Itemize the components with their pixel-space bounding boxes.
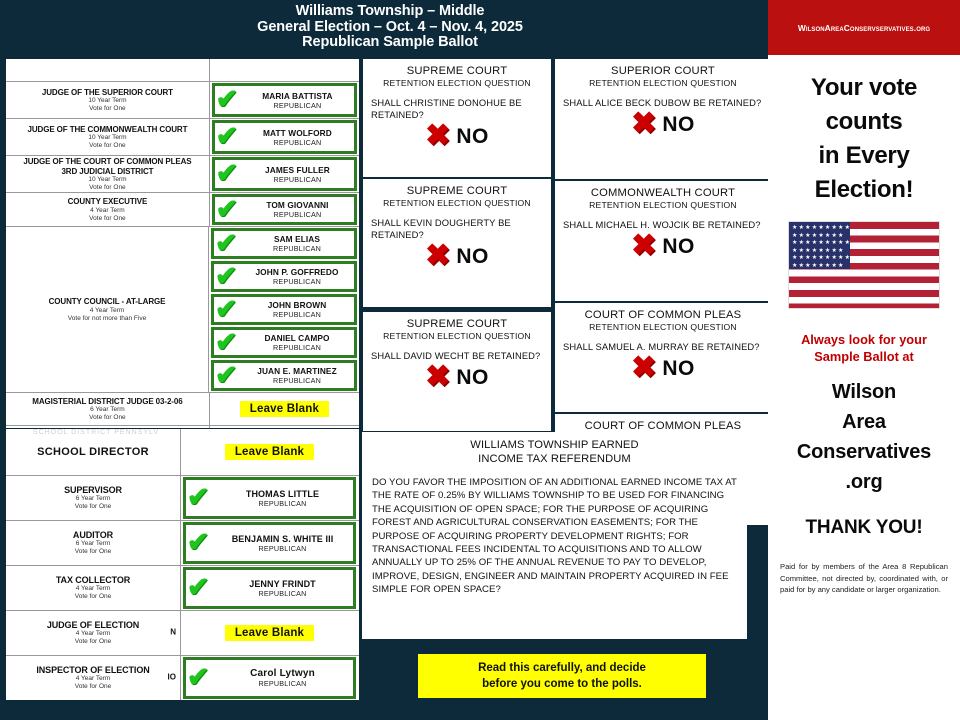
office-term: 4 Year Term (8, 307, 206, 315)
candidate-cell[interactable]: Leave Blank (210, 393, 359, 425)
office-vote-for: Vote for One (8, 548, 178, 556)
table-row: JUDGE OF THE COMMONWEALTH COURT 10 Year … (6, 119, 359, 156)
office-cell: JUDGE OF THE SUPERIOR COURT 10 Year Term… (6, 82, 210, 118)
answer-row: ✖ NO (371, 243, 543, 271)
answer-label: NO (456, 125, 489, 149)
retention-question-card: SUPREME COURT RETENTION ELECTION QUESTIO… (362, 58, 552, 178)
office-vote-for: Vote for not more than Five (8, 315, 206, 323)
table-row: MAGISTERIAL DISTRICT JUDGE 03-2-06 6 Yea… (6, 393, 359, 426)
table-row: SUPERVISOR 6 Year Term Vote for One ✔ TH… (6, 476, 359, 521)
stray-character: IO (168, 673, 176, 682)
retention-question-card: SUPREME COURT RETENTION ELECTION QUESTIO… (362, 178, 552, 308)
office-title: COUNTY EXECUTIVE (8, 197, 207, 207)
title-line-2: General Election – Oct. 4 – Nov. 4, 2025 (180, 20, 600, 36)
office-vote-for: Vote for One (8, 142, 207, 150)
check-icon: ✔ (213, 365, 239, 385)
cross-icon: ✖ (425, 242, 450, 270)
office-title: JUDGE OF ELECTION (8, 621, 178, 631)
office-cell: TAX COLLECTOR 4 Year Term Vote for One (6, 566, 181, 610)
answer-label: NO (662, 113, 695, 137)
slogan-line-3: in Every (776, 139, 952, 173)
check-icon: ✔ (213, 266, 239, 286)
check-icon: ✔ (185, 577, 211, 597)
candidate-cell[interactable]: ✔ JUAN E. MARTINEZ REPUBLICAN (209, 359, 359, 392)
candidate-cell[interactable]: ✔ JAMES FULLER REPUBLICAN (210, 156, 359, 192)
office-term: 10 Year Term (8, 134, 207, 142)
candidate-party: REPUBLICAN (239, 343, 355, 352)
candidate-cell[interactable]: ✔ TOM GIOVANNI REPUBLICAN (210, 193, 359, 226)
candidate-party: REPUBLICAN (240, 210, 355, 219)
office-cell: SCHOOL DISTRICT PENNSYLV SCHOOL DIRECTOR (6, 429, 181, 475)
check-icon: ✔ (214, 163, 240, 183)
candidate-cell (210, 59, 359, 81)
office-vote-for: Vote for One (8, 105, 207, 113)
title-line-1: Williams Township – Middle (180, 4, 600, 20)
check-icon: ✔ (185, 532, 211, 552)
question-subtitle: RETENTION ELECTION QUESTION (371, 198, 543, 209)
office-title: SCHOOL DIRECTOR (8, 448, 178, 458)
candidate-party: REPUBLICAN (240, 101, 355, 110)
question-text: SHALL KEVIN DOUGHERTY BE RETAINED? (371, 217, 543, 241)
office-title: INSPECTOR OF ELECTION (8, 666, 178, 676)
candidate-party: REPUBLICAN (211, 589, 354, 598)
question-subtitle: RETENTION ELECTION QUESTION (371, 78, 543, 89)
retention-question-card: COURT OF COMMON PLEAS RETENTION ELECTION… (554, 302, 772, 413)
leave-blank-badge: Leave Blank (225, 444, 314, 460)
office-cell: JUDGE OF THE COMMONWEALTH COURT 10 Year … (6, 119, 210, 155)
answer-row: ✖ NO (563, 111, 763, 139)
candidate-party: REPUBLICAN (211, 544, 354, 553)
office-subtitle: 3RD JUDICIAL DISTRICT (8, 167, 207, 177)
answer-row: ✖ NO (371, 123, 543, 151)
paid-for-disclaimer: Paid for by members of the Area 8 Republ… (776, 561, 952, 596)
candidate-cell[interactable]: ✔ JOHN BROWN REPUBLICAN (209, 293, 359, 326)
office-term: 4 Year Term (8, 207, 207, 215)
check-icon: ✔ (213, 299, 239, 319)
cross-icon: ✖ (631, 354, 656, 382)
candidate-cell[interactable]: ✔ SAM ELIAS REPUBLICAN (209, 227, 359, 260)
candidate-party: REPUBLICAN (240, 175, 355, 184)
office-cell: JUDGE OF THE COURT OF COMMON PLEAS 3RD J… (6, 156, 210, 192)
question-text: SHALL ALICE BECK DUBOW BE RETAINED? (563, 97, 763, 109)
candidate-party: REPUBLICAN (240, 138, 355, 147)
stray-character: N (170, 628, 176, 637)
office-title: TAX COLLECTOR (8, 576, 178, 586)
office-cell: MAGISTERIAL DISTRICT JUDGE 03-2-06 6 Yea… (6, 393, 210, 425)
page-title: Williams Township – Middle General Elect… (180, 4, 600, 51)
read-line-1: Read this carefully, and decide (422, 660, 702, 676)
cross-icon: ✖ (425, 363, 450, 391)
office-term: 4 Year Term (8, 630, 178, 638)
site-banner-label: WilsonAreaConservservatives.org (798, 23, 930, 33)
candidate-name: DANIEL CAMPO (239, 333, 355, 343)
office-cell (6, 59, 210, 81)
candidate-name: TOM GIOVANNI (240, 200, 355, 210)
referendum-title-line-1: WILLIAMS TOWNSHIP EARNED (372, 438, 737, 452)
question-subtitle: RETENTION ELECTION QUESTION (563, 78, 763, 89)
slogan-line-4: Election! (776, 173, 952, 207)
cross-icon: ✖ (425, 122, 450, 150)
referendum-title: WILLIAMS TOWNSHIP EARNED INCOME TAX REFE… (372, 438, 737, 466)
office-term: 10 Year Term (8, 97, 207, 105)
candidate-name: THOMAS LITTLE (211, 489, 354, 499)
leave-blank-badge: Leave Blank (225, 625, 314, 641)
question-subtitle: RETENTION ELECTION QUESTION (563, 322, 763, 333)
table-row: COUNTY EXECUTIVE 4 Year Term Vote for On… (6, 193, 359, 227)
office-title: AUDITOR (8, 531, 178, 541)
office-term: 10 Year Term (8, 176, 207, 184)
candidate-cell[interactable]: ✔ MATT WOLFORD REPUBLICAN (210, 119, 359, 155)
question-court: COURT OF COMMON PLEAS (563, 309, 763, 322)
candidate-list: ✔ SAM ELIAS REPUBLICAN ✔ JOHN P. GOFFRED… (209, 227, 359, 392)
answer-row: ✖ NO (563, 355, 763, 383)
referendum-block: WILLIAMS TOWNSHIP EARNED INCOME TAX REFE… (362, 432, 747, 639)
question-court: COMMONWEALTH COURT (563, 187, 763, 200)
site-banner[interactable]: WilsonAreaConservservatives.org (768, 0, 960, 55)
candidate-cell[interactable]: ✔ JOHN P. GOFFREDO REPUBLICAN (209, 260, 359, 293)
retention-question-card: SUPREME COURT RETENTION ELECTION QUESTIO… (362, 311, 552, 432)
table-row: JUDGE OF THE SUPERIOR COURT 10 Year Term… (6, 82, 359, 119)
site-name[interactable]: Wilson Area Conservatives .org (776, 377, 952, 497)
question-text: SHALL SAMUEL A. MURRAY BE RETAINED? (563, 341, 763, 353)
office-vote-for: Vote for One (8, 683, 178, 691)
ballot-table-bottom: SCHOOL DISTRICT PENNSYLV SCHOOL DIRECTOR… (5, 428, 360, 701)
office-cell: AUDITOR 6 Year Term Vote for One (6, 521, 181, 565)
slogan: Your vote counts in Every Election! (776, 71, 952, 207)
answer-row: ✖ NO (563, 233, 763, 261)
check-icon: ✔ (214, 126, 240, 146)
site-line-3: Conservatives (776, 437, 952, 467)
question-subtitle: RETENTION ELECTION QUESTION (563, 200, 763, 211)
always-look-text: Always look for your Sample Ballot at (776, 331, 952, 365)
title-line-3: Republican Sample Ballot (180, 35, 600, 51)
retention-question-card: COMMONWEALTH COURT RETENTION ELECTION QU… (554, 180, 772, 302)
question-court: SUPERIOR COURT (563, 65, 763, 78)
read-carefully-callout: Read this carefully, and decide before y… (418, 654, 706, 698)
office-vote-for: Vote for One (8, 414, 207, 422)
office-cell: COUNTY EXECUTIVE 4 Year Term Vote for On… (6, 193, 210, 226)
table-row: COUNTY COUNCIL - AT-LARGE 4 Year Term Vo… (6, 227, 359, 393)
candidate-name: SAM ELIAS (239, 234, 355, 244)
slogan-line-2: counts (776, 105, 952, 139)
candidate-cell[interactable]: ✔ BENJAMIN S. WHITE III REPUBLICAN (181, 521, 358, 565)
table-row: JUDGE OF THE COURT OF COMMON PLEAS 3RD J… (6, 156, 359, 193)
candidate-cell[interactable]: ✔ Carol Lytwyn REPUBLICAN (181, 656, 358, 700)
office-term: 6 Year Term (8, 406, 207, 414)
candidate-name: JUAN E. MARTINEZ (239, 366, 355, 376)
table-row (6, 59, 359, 82)
office-title: JUDGE OF THE COURT OF COMMON PLEAS (8, 157, 207, 167)
thank-you-text: THANK YOU! (776, 517, 952, 539)
check-icon: ✔ (214, 199, 240, 219)
slogan-line-1: Your vote (776, 71, 952, 105)
candidate-party: REPUBLICAN (211, 499, 354, 508)
table-row: AUDITOR 6 Year Term Vote for One ✔ BENJA… (6, 521, 359, 566)
always-line-1: Always look for your (776, 331, 952, 348)
question-court: SUPREME COURT (371, 318, 543, 331)
referendum-body: DO YOU FAVOR THE IMPOSITION OF AN ADDITI… (372, 476, 737, 597)
site-line-1: Wilson (776, 377, 952, 407)
us-flag-icon: ★★★★★★★★★★★★★★★★★★★★★★★★★★★★★★★★★★★★★★★★… (788, 221, 940, 309)
read-line-2: before you come to the polls. (422, 676, 702, 692)
retention-question-card: SUPERIOR COURT RETENTION ELECTION QUESTI… (554, 58, 772, 180)
office-vote-for: Vote for One (8, 503, 178, 511)
office-cell: SUPERVISOR 6 Year Term Vote for One (6, 476, 181, 520)
candidate-party: REPUBLICAN (239, 310, 355, 319)
candidate-name: BENJAMIN S. WHITE III (211, 534, 354, 544)
question-text: SHALL MICHAEL H. WOJCIK BE RETAINED? (563, 219, 763, 231)
office-cell: JUDGE OF ELECTION 4 Year Term Vote for O… (6, 611, 181, 655)
always-line-2: Sample Ballot at (776, 348, 952, 365)
referendum-title-line-2: INCOME TAX REFERENDUM (372, 452, 737, 466)
office-title: JUDGE OF THE SUPERIOR COURT (8, 88, 207, 98)
cross-icon: ✖ (631, 232, 656, 260)
office-cell: COUNTY COUNCIL - AT-LARGE 4 Year Term Vo… (6, 227, 209, 392)
question-subtitle: RETENTION ELECTION QUESTION (371, 331, 543, 342)
faint-clipped-text: SCHOOL DISTRICT PENNSYLV (16, 429, 176, 435)
question-court: SUPREME COURT (371, 65, 543, 78)
site-line-4: .org (776, 467, 952, 497)
office-title: SUPERVISOR (8, 486, 178, 496)
candidate-cell[interactable]: ✔ THOMAS LITTLE REPUBLICAN (181, 476, 358, 520)
candidate-party: REPUBLICAN (239, 277, 355, 286)
office-term: 4 Year Term (8, 585, 178, 593)
cross-icon: ✖ (631, 110, 656, 138)
candidate-name: MARIA BATTISTA (240, 91, 355, 101)
answer-row: ✖ NO (371, 364, 543, 392)
table-row: INSPECTOR OF ELECTION 4 Year Term Vote f… (6, 656, 359, 700)
table-row: SCHOOL DISTRICT PENNSYLV SCHOOL DIRECTOR… (6, 429, 359, 476)
candidate-name: JOHN P. GOFFREDO (239, 267, 355, 277)
candidate-cell[interactable]: ✔ MARIA BATTISTA REPUBLICAN (210, 82, 359, 118)
office-vote-for: Vote for One (8, 593, 178, 601)
candidate-name: Carol Lytwyn (211, 669, 354, 679)
question-text: SHALL CHRISTINE DONOHUE BE RETAINED? (371, 97, 543, 121)
answer-label: NO (662, 357, 695, 381)
site-line-2: Area (776, 407, 952, 437)
candidate-name: JOHN BROWN (239, 300, 355, 310)
candidate-cell[interactable]: ✔ JENNY FRINDT REPUBLICAN (181, 566, 358, 610)
office-title: MAGISTERIAL DISTRICT JUDGE 03-2-06 (8, 397, 207, 407)
office-term: 6 Year Term (8, 540, 178, 548)
question-court: SUPREME COURT (371, 185, 543, 198)
office-title: JUDGE OF THE COMMONWEALTH COURT (8, 125, 207, 135)
office-title: COUNTY COUNCIL - AT-LARGE (8, 297, 206, 307)
answer-label: NO (456, 366, 489, 390)
office-term: 4 Year Term (8, 675, 178, 683)
office-vote-for: Vote for One (8, 184, 207, 192)
table-row: TAX COLLECTOR 4 Year Term Vote for One ✔… (6, 566, 359, 611)
check-icon: ✔ (185, 667, 211, 687)
promo-panel: Your vote counts in Every Election! ★★★★… (768, 55, 960, 720)
answer-label: NO (662, 235, 695, 259)
flag-stars: ★★★★★★★★★★★★★★★★★★★★★★★★★★★★★★★★★★★★★★★★… (789, 222, 850, 269)
candidate-party: REPUBLICAN (239, 244, 355, 253)
check-icon: ✔ (213, 233, 239, 253)
candidate-name: MATT WOLFORD (240, 128, 355, 138)
office-vote-for: Vote for One (8, 638, 178, 646)
question-text: SHALL DAVID WECHT BE RETAINED? (371, 350, 543, 362)
ballot-flyer: Williams Township – Middle General Elect… (0, 0, 960, 720)
candidate-cell[interactable]: Leave Blank (181, 429, 358, 475)
candidate-party: REPUBLICAN (239, 376, 355, 385)
candidate-name: JAMES FULLER (240, 165, 355, 175)
office-vote-for: Vote for One (8, 215, 207, 223)
check-icon: ✔ (213, 332, 239, 352)
table-row: JUDGE OF ELECTION 4 Year Term Vote for O… (6, 611, 359, 656)
office-cell: INSPECTOR OF ELECTION 4 Year Term Vote f… (6, 656, 181, 700)
candidate-cell[interactable]: Leave Blank (181, 611, 358, 655)
candidate-party: REPUBLICAN (211, 679, 354, 688)
answer-label: NO (456, 245, 489, 269)
leave-blank-badge: Leave Blank (240, 401, 329, 417)
candidate-name: JENNY FRINDT (211, 579, 354, 589)
ballot-table-top: JUDGE OF THE SUPERIOR COURT 10 Year Term… (5, 58, 360, 449)
office-term: 6 Year Term (8, 495, 178, 503)
check-icon: ✔ (214, 89, 240, 109)
candidate-cell[interactable]: ✔ DANIEL CAMPO REPUBLICAN (209, 326, 359, 359)
check-icon: ✔ (185, 487, 211, 507)
